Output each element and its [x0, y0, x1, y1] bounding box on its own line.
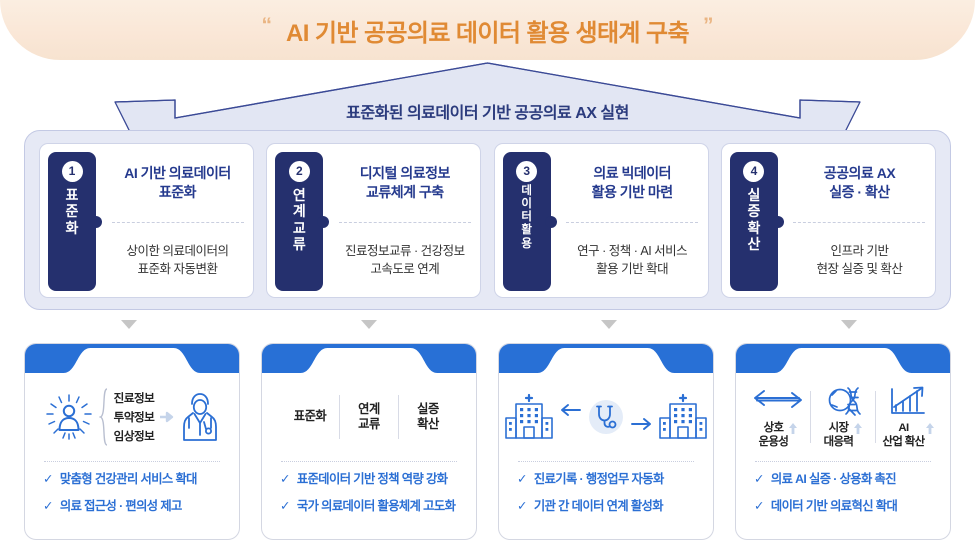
beneficiary-card-header: 정부 [262, 344, 476, 373]
strategy-card-title: AI 기반 의료데이터 표준화 [106, 144, 249, 222]
government-column: 실증 확산 [399, 402, 457, 433]
institutions-icon-block [499, 373, 713, 461]
beneficiary-card-list: 국민 [24, 343, 951, 543]
industry-column-line2: 운용성 [759, 436, 789, 448]
industry-column-line2: 산업 확산 [882, 436, 924, 448]
strategy-card-desc-line2: 현장 실증 및 확산 [817, 261, 903, 279]
industry-column-line1: AI [898, 422, 908, 434]
citizens-icon-block: 진료정보 투약정보 임상정보 [25, 373, 239, 461]
government-column-line1: 표준화 [281, 409, 339, 424]
strategy-card[interactable]: 2 연계교류 디지털 의료정보 교류체계 구축 진료정보교류 · 건강정보 고속… [266, 143, 481, 298]
strategy-card-title-line2: 실증 · 확산 [829, 183, 889, 202]
government-column-line2: 확산 [399, 417, 457, 432]
bullet-item: ✓ 진료기록 · 행정업무 자동화 [517, 472, 713, 487]
hospital-icon [503, 392, 555, 442]
magnifier-dna-icon [820, 385, 866, 419]
beneficiary-card-title: 국민 [25, 344, 239, 373]
bullet-text: 국가 의료데이터 활용체계 고도화 [297, 499, 455, 514]
check-icon: ✓ [43, 499, 53, 514]
beneficiary-card-title: 의료기관 [499, 344, 713, 373]
government-column-line1: 실증 [399, 402, 457, 417]
beneficiary-card-institutions[interactable]: 의료기관 [498, 343, 714, 540]
strategy-card-number: 3 [516, 161, 537, 182]
beneficiary-card-header: 국민 [25, 344, 239, 373]
strategy-card-number: 2 [289, 161, 310, 182]
bullet-item: ✓ 표준데이터 기반 정책 역량 강화 [280, 472, 476, 487]
industry-column-caption: AI 산업 확산 [882, 422, 933, 450]
strategy-card-title-line2: 활용 기반 마련 [592, 183, 673, 202]
strategy-card-desc-line1: 상이한 의료데이터의 [127, 243, 229, 261]
bullet-text: 기관 간 데이터 연계 활성화 [534, 499, 663, 514]
check-icon: ✓ [43, 472, 53, 487]
bullet-text: 진료기록 · 행정업무 자동화 [534, 472, 664, 487]
industry-column-line1: 시장 [829, 422, 849, 434]
strategy-card-tab: 3 데이터활용 [503, 152, 551, 291]
doctor-icon [180, 391, 220, 443]
strategy-card-title: 의료 빅데이터 활용 기반 마련 [561, 144, 704, 222]
government-column-line2: 교류 [340, 417, 398, 432]
strategy-card[interactable]: 4 실증확산 공공의료 AX 실증 · 확산 인프라 기반 현장 실증 및 확산 [721, 143, 936, 298]
beneficiary-card-title: 정부 [262, 344, 476, 373]
strategy-card-title-line1: 의료 빅데이터 [593, 164, 671, 183]
government-column: 표준화 [281, 409, 339, 424]
growth-chart-icon [886, 385, 930, 419]
bullet-text: 의료 접근성 · 편의성 제고 [60, 499, 182, 514]
strategy-card-vertical-label: 실증확산 [744, 187, 764, 253]
quote-close-icon: ” [703, 15, 714, 36]
check-icon: ✓ [754, 499, 764, 514]
strategy-card-title-line1: 디지털 의료정보 [360, 164, 450, 183]
strategy-card-tab: 1 표준화 [48, 152, 96, 291]
strategy-card-desc-line2: 표준화 자동변환 [138, 261, 218, 279]
strategy-card-tab: 4 실증확산 [730, 152, 778, 291]
stethoscope-icon [585, 396, 627, 438]
industry-columns: 상호 운용성 [736, 373, 950, 461]
beneficiary-card-government[interactable]: 정부 표준화 연계 교류 실증 확산 [261, 343, 477, 540]
strategy-card[interactable]: 1 표준화 AI 기반 의료데이터 표준화 상이한 의료데이터의 표준화 자동변… [39, 143, 254, 298]
citizens-bullets: ✓ 맞춤형 건강관리 서비스 확대 ✓ 의료 접근성 · 편의성 제고 [25, 462, 239, 514]
beneficiary-card-title: 산업계 [736, 344, 950, 373]
connector-row [24, 318, 951, 338]
strategy-card-title-line2: 표준화 [159, 183, 196, 202]
check-icon: ✓ [517, 499, 527, 514]
strategy-card-desc: 상이한 의료데이터의 표준화 자동변환 [106, 223, 249, 299]
beneficiary-card-header: 산업계 [736, 344, 950, 373]
strategy-card-vertical-label: 표준화 [62, 187, 82, 237]
bullet-item: ✓ 맞춤형 건강관리 서비스 확대 [43, 472, 239, 487]
industry-column-caption: 시장 대응력 [824, 422, 863, 450]
up-arrow-icon [789, 423, 797, 434]
bullet-text: 맞춤형 건강관리 서비스 확대 [60, 472, 197, 487]
industry-bullets: ✓ 의료 AI 실증 · 상용화 촉진 ✓ 데이터 기반 의료혁신 확대 [736, 462, 950, 514]
beneficiary-card-header: 의료기관 [499, 344, 713, 373]
arrow-right-icon [159, 410, 175, 424]
strategy-card-desc-line1: 진료정보교류 · 건강정보 [345, 243, 465, 261]
strategy-card-desc: 연구 · 정책 · AI 서비스 활용 기반 확대 [561, 223, 704, 299]
institutions-bullets: ✓ 진료기록 · 행정업무 자동화 ✓ 기관 간 데이터 연계 활성화 [499, 462, 713, 514]
citizens-info-labels: 진료정보 투약정보 임상정보 [114, 390, 155, 444]
bullet-item: ✓ 기관 간 데이터 연계 활성화 [517, 499, 713, 514]
beneficiary-card-industry[interactable]: 산업계 상호 운용성 [735, 343, 951, 540]
check-icon: ✓ [280, 472, 290, 487]
strategy-card-list: 1 표준화 AI 기반 의료데이터 표준화 상이한 의료데이터의 표준화 자동변… [24, 130, 951, 310]
page-title: AI 기반 공공의료 데이터 활용 생태계 구축 [286, 13, 689, 48]
up-arrow-icon [926, 423, 934, 434]
government-columns: 표준화 연계 교류 실증 확산 [262, 373, 476, 461]
arrow-left-icon [559, 400, 581, 434]
strategy-card-vertical-label: 연계교류 [289, 187, 309, 253]
strategy-card-title: 공공의료 AX 실증 · 확산 [788, 144, 931, 222]
citizens-info-label: 진료정보 [114, 390, 155, 406]
brace-icon [99, 388, 109, 446]
strategy-card-body: AI 기반 의료데이터 표준화 상이한 의료데이터의 표준화 자동변환 [102, 144, 253, 299]
bullet-item: ✓ 데이터 기반 의료혁신 확대 [754, 499, 950, 514]
down-triangle-icon [601, 320, 617, 329]
goal-banner-text: 표준화된 의료데이터 기반 공공의료 AX 실현 [0, 60, 975, 132]
strategy-card-desc-line2: 고속도로 연계 [370, 261, 439, 279]
industry-column: 시장 대응력 [811, 385, 875, 450]
up-arrow-icon [854, 423, 862, 434]
industry-column: 상호 운용성 [746, 385, 810, 450]
infographic-page: “ AI 기반 공공의료 데이터 활용 생태계 구축 ” 표준화된 의료데이터 … [0, 0, 975, 556]
government-bullets: ✓ 표준데이터 기반 정책 역량 강화 ✓ 국가 의료데이터 활용체계 고도화 [262, 462, 476, 514]
strategy-card-title-line2: 교류체계 구축 [366, 183, 444, 202]
check-icon: ✓ [280, 499, 290, 514]
person-radiating-icon [44, 392, 94, 442]
strategy-card-title-line1: 공공의료 AX [824, 164, 895, 183]
strategy-card-tab: 2 연계교류 [275, 152, 323, 291]
strategy-card-vertical-label: 데이터활용 [517, 185, 537, 252]
header: “ AI 기반 공공의료 데이터 활용 생태계 구축 ” [0, 0, 975, 60]
strategy-card-desc: 인프라 기반 현장 실증 및 확산 [788, 223, 931, 299]
strategy-card-desc: 진료정보교류 · 건강정보 고속도로 연계 [333, 223, 476, 299]
citizens-info-label: 투약정보 [114, 409, 155, 425]
quote-open-icon: “ [262, 15, 273, 36]
strategy-card-number: 1 [62, 161, 83, 182]
bidirectional-arrow-icon [752, 385, 804, 419]
bullet-item: ✓ 의료 AI 실증 · 상용화 촉진 [754, 472, 950, 487]
strategy-card-number: 4 [743, 161, 764, 182]
strategy-card-title: 디지털 의료정보 교류체계 구축 [333, 144, 476, 222]
strategy-card-desc-line1: 인프라 기반 [830, 243, 888, 261]
beneficiary-card-citizens[interactable]: 국민 [24, 343, 240, 540]
strategy-card-body: 공공의료 AX 실증 · 확산 인프라 기반 현장 실증 및 확산 [784, 144, 935, 299]
down-triangle-icon [841, 320, 857, 329]
down-triangle-icon [121, 320, 137, 329]
hospital-icon [657, 392, 709, 442]
goal-banner: 표준화된 의료데이터 기반 공공의료 AX 실현 [0, 60, 975, 132]
industry-column-line1: 상호 [764, 422, 784, 434]
strategy-card-title-line1: AI 기반 의료데이터 [124, 164, 230, 183]
strategy-card-desc-line1: 연구 · 정책 · AI 서비스 [577, 243, 687, 261]
strategy-card[interactable]: 3 데이터활용 의료 빅데이터 활용 기반 마련 연구 · 정책 · AI 서비… [494, 143, 709, 298]
check-icon: ✓ [517, 472, 527, 487]
strategy-card-body: 의료 빅데이터 활용 기반 마련 연구 · 정책 · AI 서비스 활용 기반 … [557, 144, 708, 299]
down-triangle-icon [361, 320, 377, 329]
bullet-text: 의료 AI 실증 · 상용화 촉진 [771, 472, 896, 487]
strategy-card-body: 디지털 의료정보 교류체계 구축 진료정보교류 · 건강정보 고속도로 연계 [329, 144, 480, 299]
bullet-item: ✓ 국가 의료데이터 활용체계 고도화 [280, 499, 476, 514]
bullet-item: ✓ 의료 접근성 · 편의성 제고 [43, 499, 239, 514]
industry-column: AI 산업 확산 [876, 385, 940, 450]
bullet-text: 표준데이터 기반 정책 역량 강화 [297, 472, 448, 487]
citizens-info-label: 임상정보 [114, 428, 155, 444]
industry-column-caption: 상호 운용성 [759, 422, 798, 450]
strategy-card-desc-line2: 활용 기반 확대 [596, 261, 668, 279]
arrow-right-icon [631, 400, 653, 434]
government-column: 연계 교류 [340, 402, 398, 433]
industry-column-line2: 대응력 [824, 436, 854, 448]
government-column-line1: 연계 [340, 402, 398, 417]
check-icon: ✓ [754, 472, 764, 487]
bullet-text: 데이터 기반 의료혁신 확대 [771, 499, 897, 514]
